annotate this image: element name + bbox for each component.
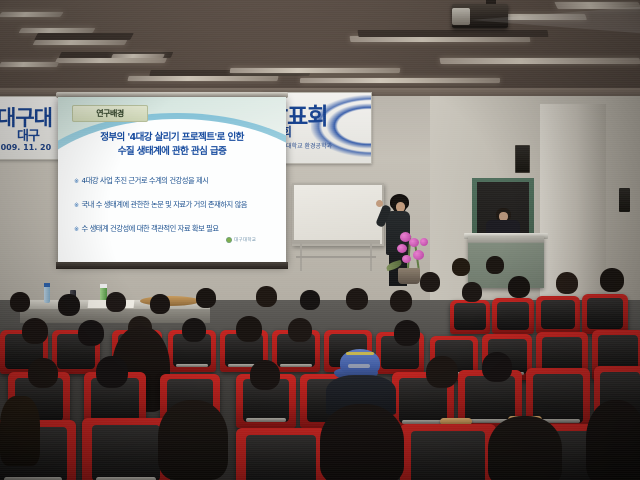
orchid-pot [398, 268, 420, 284]
audience-head [482, 352, 512, 382]
bullet-marker-icon: ※ [74, 202, 79, 209]
audience-head [96, 356, 128, 388]
slide-bullet-2: ※국내 수 생태계에 관한한 논문 및 자료가 거의 존재하지 않음 [74, 200, 247, 210]
audience-head [462, 282, 482, 302]
projection-screen: 연구배경 정부의 '4대강 살리기 프로젝트'로 인한 수질 생태계에 관한 관… [58, 97, 286, 265]
slide-bullet-1: ※4대강 사업 추진 근거로 수계의 건강성을 제시 [74, 176, 208, 186]
foreground-audience-head [0, 396, 40, 466]
audience-head [394, 320, 420, 346]
seat[interactable] [450, 300, 490, 334]
foreground-audience-head [158, 400, 228, 480]
audience-head [196, 288, 216, 308]
seat-cushion [541, 300, 575, 330]
audience-head [236, 316, 262, 342]
audience-head [288, 318, 312, 342]
audience-head [600, 268, 624, 292]
audience-head [420, 272, 440, 292]
audience-head [250, 360, 280, 390]
audience-head [28, 358, 58, 388]
projector-lens-icon [452, 8, 470, 25]
orchid-flower [409, 238, 419, 247]
whiteboard-crossbar [296, 256, 376, 258]
banner-left-line2: 대구 [17, 125, 39, 144]
seat[interactable] [236, 428, 326, 480]
seat-cushion [533, 374, 583, 422]
audience-head [486, 256, 504, 274]
screen-bottom-bar [56, 262, 288, 269]
wall-speaker-secondary [619, 188, 630, 212]
slide-bullet-2-text: 국내 수 생태계에 관한한 논문 및 자료가 거의 존재하지 않음 [82, 200, 248, 209]
seat-cushion [454, 303, 485, 330]
lectern [468, 236, 544, 288]
orchid-flower [413, 250, 424, 260]
audience-head [182, 318, 206, 342]
orchid-flower [420, 238, 428, 246]
foreground-audience-head [586, 400, 640, 480]
audience-head [508, 276, 530, 298]
slide-logo-icon [226, 237, 232, 243]
seat[interactable] [492, 298, 534, 334]
audience-head [556, 272, 578, 294]
seat-bar [246, 418, 287, 422]
slide-bullet-1-text: 4대강 사업 추진 근거로 수계의 건강성을 제시 [82, 176, 209, 185]
slide-title-line1: 정부의 '4대강 살리기 프로젝트'로 인한 [58, 129, 286, 143]
slide-header-box: 연구배경 [72, 105, 148, 122]
presenter-hand [376, 200, 383, 207]
audience-head [78, 320, 104, 346]
water-bottle [44, 286, 50, 303]
slide-header-label: 연구배경 [73, 108, 147, 119]
bullet-marker-icon: ※ [74, 226, 79, 233]
slide-bullet-3-text: 수 생태계 건강성에 대한 객관적인 자료 확보 필요 [82, 224, 219, 233]
whiteboard-tray [292, 240, 380, 244]
audience-head [426, 356, 458, 388]
seat-cushion [587, 298, 623, 329]
water-bottle-cap [44, 283, 50, 287]
seat-cushion [465, 376, 515, 423]
bullet-marker-icon: ※ [74, 178, 79, 185]
seat-bar [176, 364, 209, 367]
audience-head [58, 294, 80, 316]
seat[interactable] [400, 424, 496, 480]
orchid-flower [397, 244, 407, 253]
seat-bar [280, 364, 313, 367]
audience-head [10, 292, 30, 312]
seat[interactable] [536, 296, 580, 334]
green-bottle-cap [100, 284, 107, 288]
slide-title-line2: 수질 생태계에 관한 관심 급증 [58, 143, 286, 157]
audience-head [390, 290, 412, 312]
banner-left-date: 2009. 11. 20 [0, 143, 51, 152]
cap-stripe [346, 352, 374, 355]
audience-head [106, 292, 126, 312]
audience-head [22, 318, 48, 344]
audience-head [452, 258, 470, 276]
slide-footer-logo-text: 대구대학교 [234, 237, 256, 243]
whiteboard [292, 183, 384, 246]
seat-cushion [92, 425, 161, 480]
projector-beam [470, 6, 640, 34]
seat-cushion [246, 435, 316, 480]
orchid-flower [402, 255, 411, 263]
audience-head [346, 288, 368, 310]
foreground-audience-head [320, 404, 404, 480]
wall-speaker [515, 145, 530, 173]
seat-cushion [411, 431, 486, 480]
lecture-hall-photo: 대구대 대구 2009. 11. 20 발표회 표회 대구대학교 환경공학과 연… [0, 0, 640, 480]
foreground-audience-head [488, 416, 562, 480]
audience-head [256, 286, 277, 307]
seat[interactable] [82, 418, 170, 480]
audience-head [300, 290, 320, 310]
seat-cushion [497, 302, 530, 330]
seat[interactable] [582, 294, 628, 334]
audience-head [150, 294, 170, 314]
snack-tray [140, 296, 200, 306]
cap-logo [348, 364, 370, 368]
slide-bullet-3: ※수 생태계 건강성에 대한 객관적인 자료 확보 필요 [74, 224, 219, 234]
